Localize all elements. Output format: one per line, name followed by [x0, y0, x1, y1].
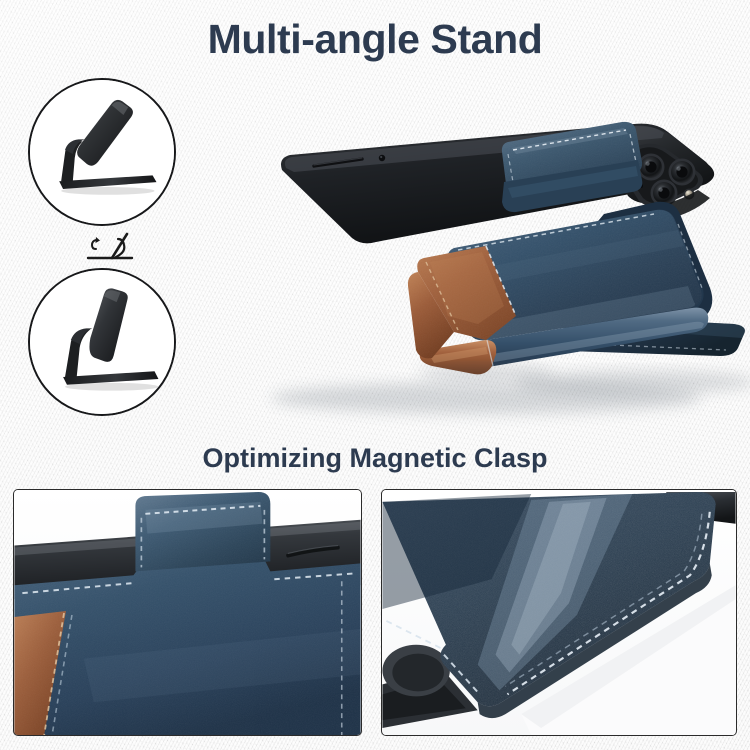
stand-angle-low-illustration — [30, 80, 174, 224]
angle-adjust-glyph — [82, 228, 138, 266]
circle-inset-stand-angle-high — [28, 268, 176, 416]
phone-case-stand-hero — [186, 110, 746, 430]
detail-panel-clasp-flap-texture — [381, 489, 737, 736]
circle-inset-stand-angle-low — [28, 78, 176, 226]
page-title: Multi-angle Stand — [0, 16, 750, 63]
hero-illustration — [186, 110, 746, 430]
section-subtitle: Optimizing Magnetic Clasp — [0, 443, 750, 474]
angle-adjust-icon — [82, 228, 138, 266]
clasp-tab-closeup-illustration — [14, 490, 361, 735]
clasp-flap-texture-illustration — [382, 490, 736, 735]
detail-panel-clasp-tab-closeup — [13, 489, 362, 736]
stand-angle-high-illustration — [30, 270, 174, 414]
